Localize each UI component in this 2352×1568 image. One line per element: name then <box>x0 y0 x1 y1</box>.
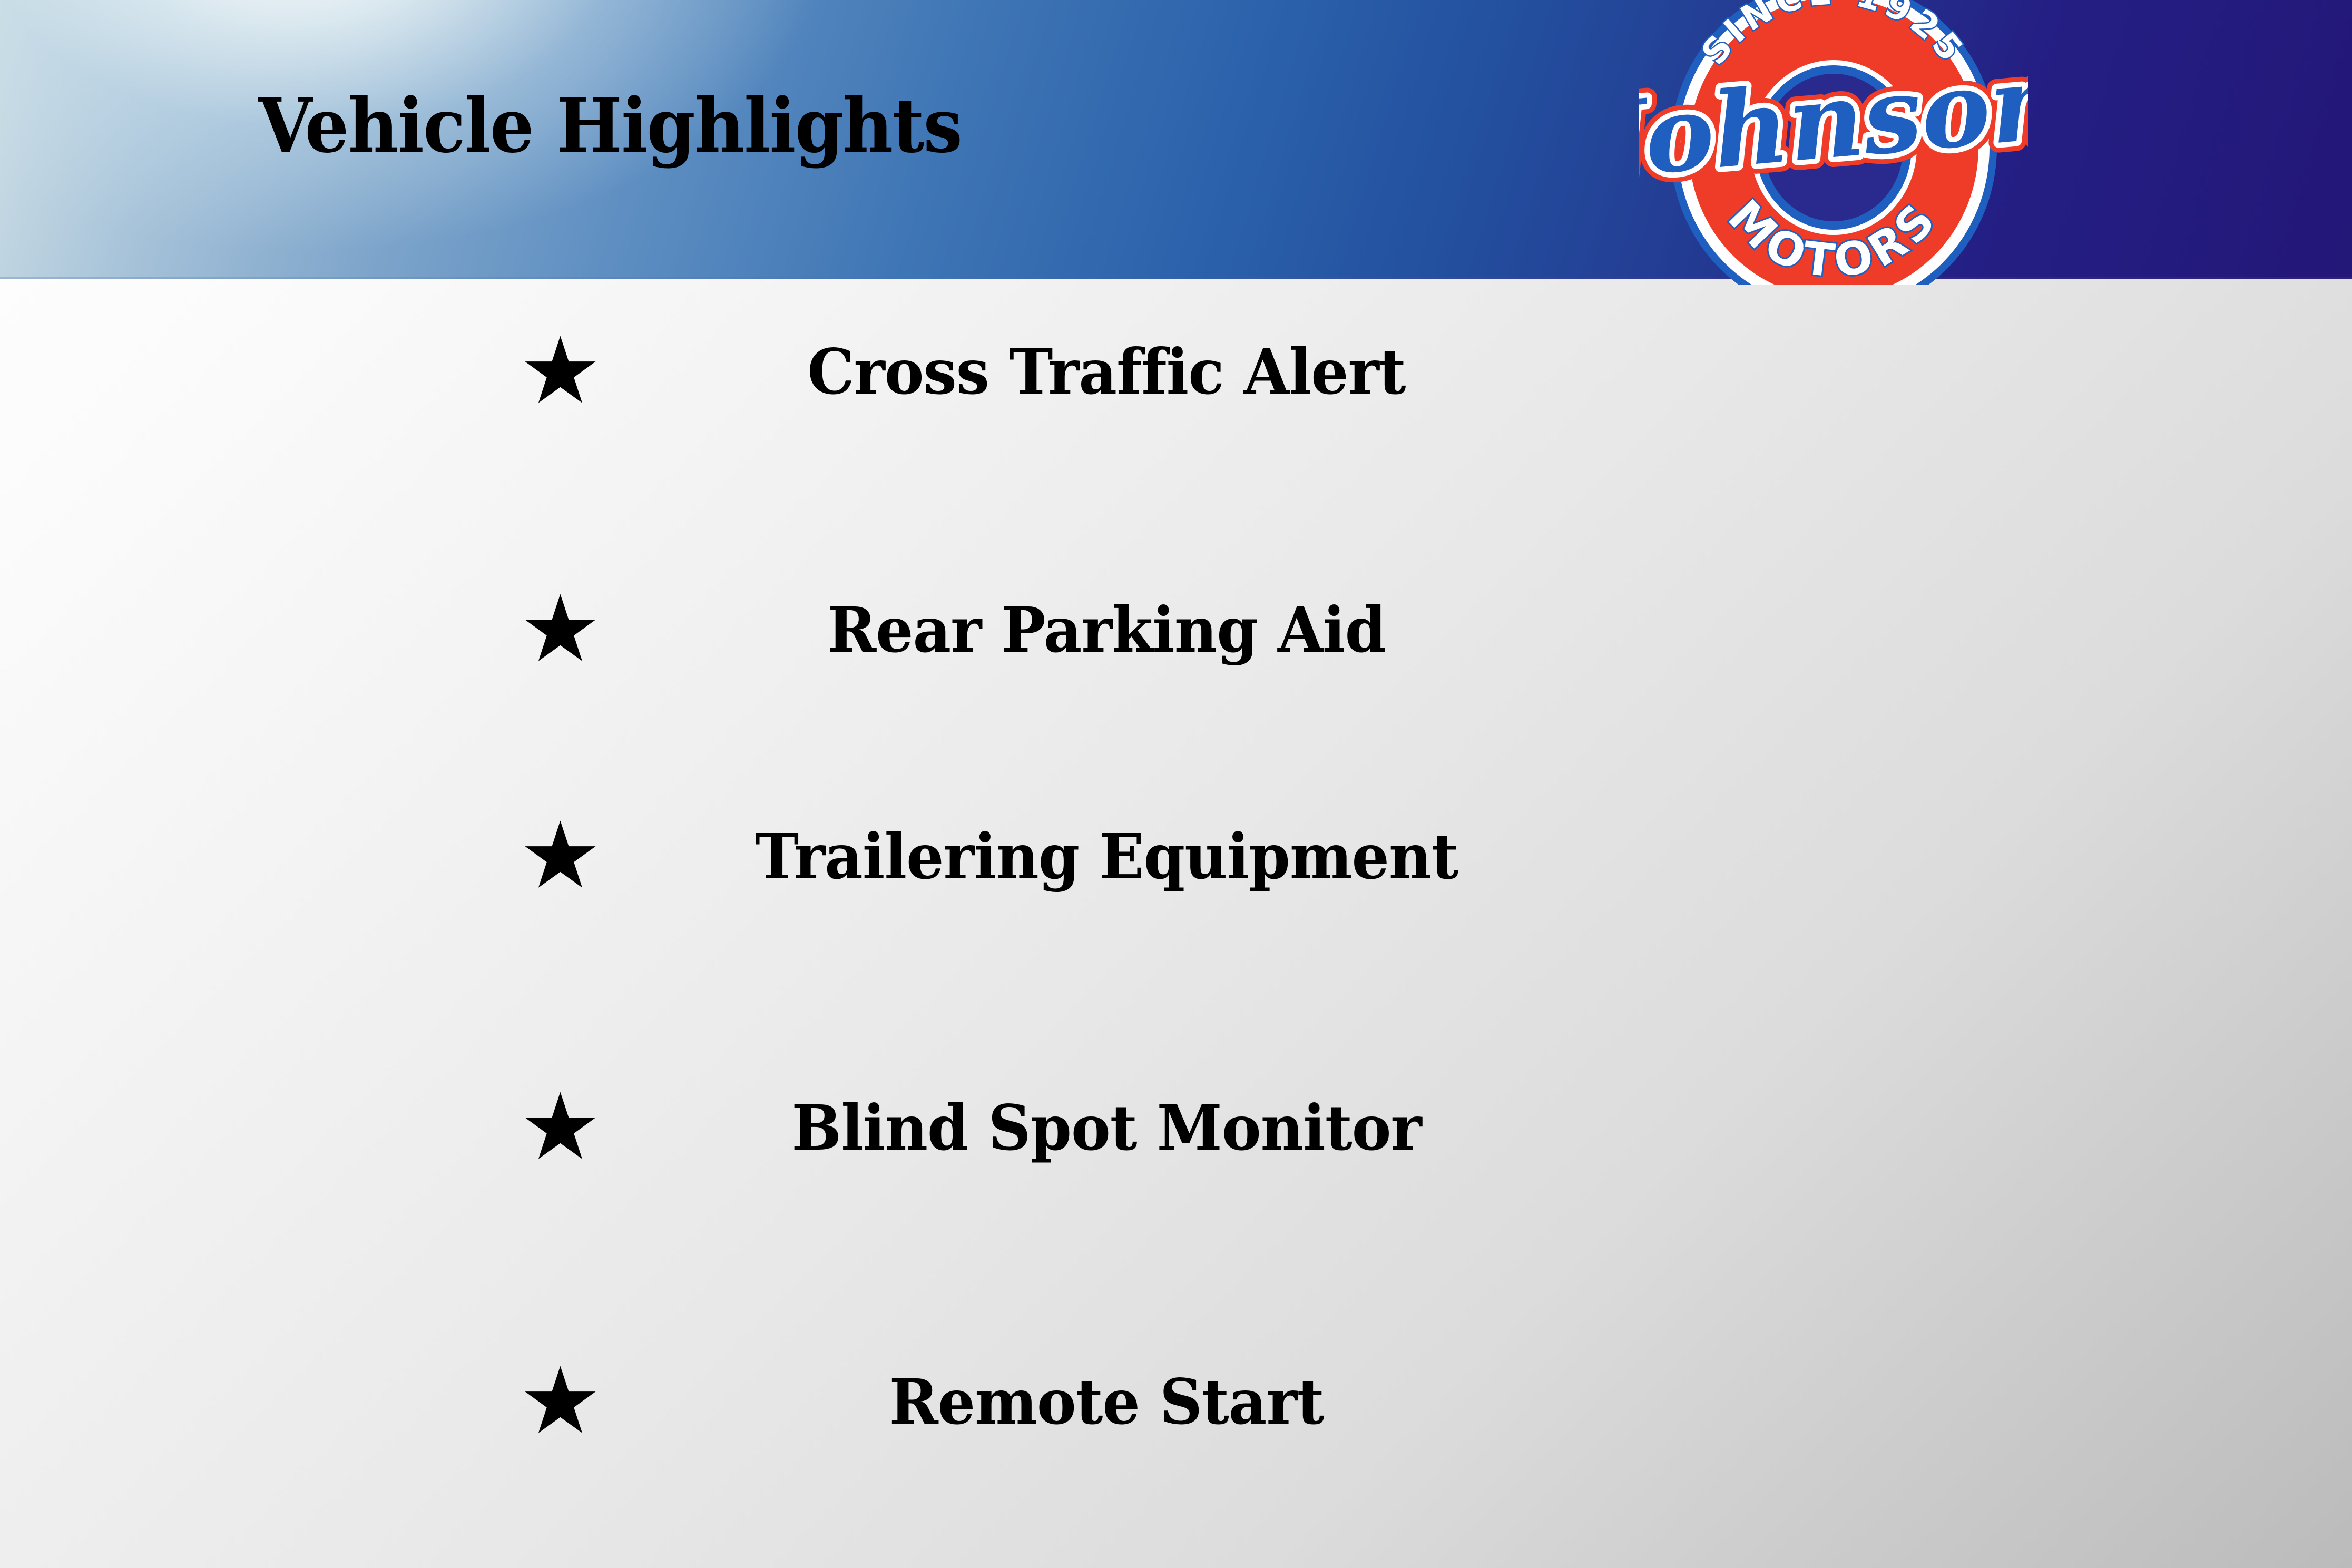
list-item: ★ Blind Spot Monitor <box>0 1088 1528 1172</box>
list-item: ★ Remote Start <box>0 1362 1528 1446</box>
feature-label: Remote Start <box>721 1362 1492 1441</box>
star-bullet-icon: ★ <box>519 590 598 669</box>
johnson-motors-logo: SINCE 1925 MOTORS Johnson Johnson Johnso… <box>1639 0 2028 285</box>
star-bullet-icon: ★ <box>519 1088 598 1167</box>
star-bullet-icon: ★ <box>519 1362 598 1441</box>
feature-label: Cross Traffic Alert <box>721 332 1492 411</box>
list-item: ★ Trailering Equipment <box>0 817 1528 901</box>
vehicle-highlights-list: ★ Cross Traffic Alert ★ Rear Parking Aid… <box>0 279 2352 1568</box>
feature-label: Blind Spot Monitor <box>721 1088 1492 1167</box>
feature-label: Trailering Equipment <box>721 817 1492 896</box>
list-item: ★ Rear Parking Aid <box>0 590 1528 674</box>
feature-label: Rear Parking Aid <box>721 590 1492 669</box>
list-item: ★ Cross Traffic Alert <box>0 332 1528 416</box>
star-bullet-icon: ★ <box>519 332 598 411</box>
page-title: Vehicle Highlights <box>258 89 962 163</box>
star-bullet-icon: ★ <box>519 817 598 896</box>
vehicle-highlights-slide: Vehicle Highlights SINCE 1925 <box>0 0 2352 1568</box>
